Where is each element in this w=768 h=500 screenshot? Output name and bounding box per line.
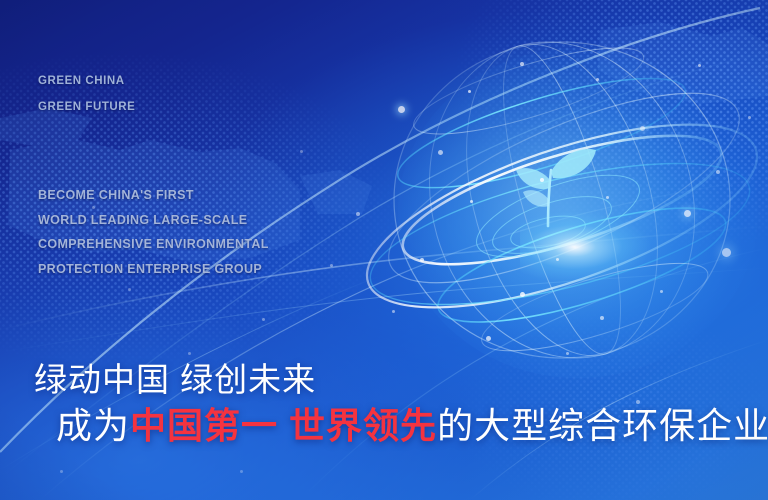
headline-highlight-china-first: 中国第一 — [130, 405, 278, 446]
mission-statement-english: BECOME CHINA'S FIRST WORLD LEADING LARGE… — [38, 183, 269, 281]
sprout-icon — [516, 149, 596, 226]
tagline-line-2: GREEN FUTURE — [38, 94, 135, 120]
mission-line-3: COMPREHENSIVE ENVIRONMENTAL — [38, 232, 269, 257]
core-flare-glow — [520, 212, 650, 282]
particle-field — [0, 0, 768, 500]
mission-line-4: PROTECTION ENTERPRISE GROUP — [38, 257, 269, 282]
globe-graphic — [362, 20, 768, 380]
halftone-dot-texture-topleft — [0, 0, 768, 500]
headline-suffix: 的大型综合环保企业集团 — [437, 405, 768, 446]
mission-line-2: WORLD LEADING LARGE-SCALE — [38, 208, 269, 233]
world-map-silhouette — [0, 0, 768, 500]
headline-chinese: 绿动中国 绿创未来 成为中国第一 世界领先的大型综合环保企业集团 — [34, 358, 768, 450]
vignette-overlay — [0, 0, 768, 500]
headline-line-2: 成为中国第一 世界领先的大型综合环保企业集团 — [56, 402, 768, 450]
halftone-dot-texture-topright — [0, 0, 768, 500]
headline-highlight-world-leading: 世界领先 — [289, 405, 437, 446]
globe-halo — [398, 48, 758, 378]
headline-gap — [278, 405, 289, 446]
tagline-english: GREEN CHINA GREEN FUTURE — [38, 68, 135, 120]
light-streaks — [0, 0, 768, 500]
halftone-dot-texture-bottomright — [0, 0, 768, 500]
tagline-line-1: GREEN CHINA — [38, 68, 135, 94]
mission-line-1: BECOME CHINA'S FIRST — [38, 183, 269, 208]
headline-prefix: 成为 — [56, 405, 130, 446]
hero-banner: GREEN CHINA GREEN FUTURE BECOME CHINA'S … — [0, 0, 768, 500]
headline-line-1: 绿动中国 绿创未来 — [34, 358, 768, 402]
